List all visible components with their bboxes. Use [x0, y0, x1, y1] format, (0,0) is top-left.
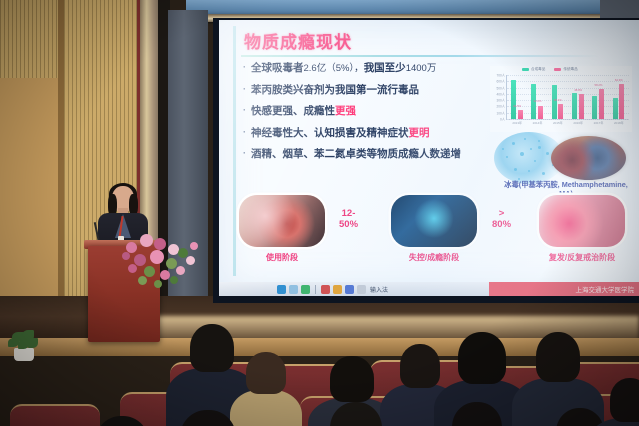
chart-point-label: 38.4%: [554, 98, 562, 102]
audience-member-head: [458, 332, 506, 384]
molecule-dot: [546, 152, 549, 155]
chart-x-tick: 2013年: [512, 121, 522, 125]
flower-blossom: [144, 266, 155, 277]
molecule-dot: [506, 156, 508, 158]
bullet-marker-icon: ·: [243, 62, 246, 74]
flower-blossom: [166, 258, 177, 269]
flower-blossom: [190, 242, 198, 250]
taskbar-venue-text: 上海交通大学医学院: [576, 284, 635, 294]
chart-gridline: [507, 88, 629, 89]
flower-blossom: [154, 238, 166, 250]
projection-screen: 物质成瘾现状 ·全球吸毒者2.6亿（5%），我国至少1400万·苯丙胺类兴奋剂为…: [219, 20, 639, 296]
chart-point-label: 24.5%: [513, 104, 521, 108]
chart-gridline: [507, 75, 629, 76]
browser-icon[interactable]: [277, 285, 286, 294]
chart-bar-group: [572, 93, 584, 119]
chart-y-tick: 500人: [496, 85, 505, 90]
chart-legend-item-0: 合成毒品: [522, 67, 545, 72]
bullet-text: 全球吸毒者2.6亿（5%），我国至少1400万: [251, 62, 436, 75]
bullet-text: 酒精、烟草、苯二氮卓类等物质成瘾人数递增: [251, 148, 461, 161]
stage-photo-relapse: [539, 195, 625, 247]
chart-gridline: [507, 100, 629, 101]
bullet-text: 快感更强、成瘾性更强: [251, 105, 356, 118]
transition-rate-addiction-to-relapse: >80%: [492, 209, 511, 231]
stage-card-use: 使用阶段: [239, 195, 325, 263]
shield-icon[interactable]: [345, 285, 354, 294]
chart-bar: [579, 94, 584, 119]
chart-y-tick: 100人: [496, 110, 505, 115]
flower-blossom: [138, 276, 147, 285]
flower-blossom: [176, 266, 185, 275]
molecule-dot: [534, 160, 536, 162]
slide-title: 物质成瘾现状: [244, 28, 352, 53]
chart-y-tick: 400人: [496, 91, 505, 96]
chart-x-tick: 2018年: [614, 121, 624, 125]
bullet-marker-icon: ·: [243, 127, 246, 139]
chart-point-label: 48.8%: [574, 88, 582, 92]
chart-point-label: 58.2%: [595, 83, 603, 87]
potted-plant: [8, 330, 38, 360]
presentation-slide: 物质成瘾现状 ·全球吸毒者2.6亿（5%），我国至少1400万·苯丙胺类兴奋剂为…: [219, 20, 639, 282]
flower-blossom: [154, 280, 162, 288]
slide-bullet-2: ·快感更强、成瘾性更强: [243, 105, 501, 118]
flower-blossom: [126, 242, 137, 253]
chart-gridline: [507, 106, 629, 107]
chart-point-label: 64.9%: [615, 78, 623, 82]
slide-title-rule: [241, 55, 599, 57]
transition-rate-line2: 50%: [339, 220, 358, 231]
chart-gridline: [507, 119, 629, 120]
chart-x-tick: 2016年: [573, 121, 583, 125]
slide-bullet-0: ·全球吸毒者2.6亿（5%），我国至少1400万: [243, 62, 501, 75]
chart-point-label: 32.0%: [534, 99, 542, 103]
bullet-marker-icon: ·: [243, 105, 246, 117]
chart-gridline: [507, 81, 629, 82]
chart-bar: [572, 93, 577, 119]
chart-y-tick: 300人: [496, 98, 505, 103]
conference-photo: 物质成瘾现状 ·全球吸毒者2.6亿（5%），我国至少1400万·苯丙胺类兴奋剂为…: [0, 0, 639, 426]
molecule-dot: [542, 172, 545, 175]
chart-y-tick: 0人: [500, 117, 505, 122]
stage-photo-loss-of-control: [391, 195, 477, 247]
slide-bullet-1: ·苯丙胺类兴奋剂为我国第一流行毒品: [243, 84, 501, 97]
molecule-dot: [538, 140, 540, 142]
molecule-dot: [502, 148, 504, 150]
slide-accent-bar: [233, 26, 236, 276]
chart-bar: [511, 80, 516, 119]
audience-member-head: [536, 332, 580, 382]
chart-x-tick: 2015年: [553, 121, 563, 125]
chart-bar: [599, 89, 604, 119]
molecule-dot: [530, 148, 532, 150]
bullet-text: 神经毒性大、认知损害及精神症状更明: [251, 127, 430, 140]
legend-swatch-icon: [522, 68, 529, 71]
flower-blossom: [140, 234, 153, 247]
chart-bar: [558, 104, 563, 119]
chart-x-tick: 2014年: [533, 121, 543, 125]
chart-bar: [538, 106, 543, 120]
chart-gridline: [507, 113, 629, 114]
taskbar-icon-group: [219, 285, 366, 294]
legend-label: 传统毒品: [563, 67, 577, 72]
taskbar-separator: [315, 285, 316, 294]
slide-bullet-4: ·酒精、烟草、苯二氮卓类等物质成瘾人数递增: [243, 148, 501, 161]
chart-y-tick: 700人: [496, 73, 505, 78]
bullet-marker-icon: ·: [243, 148, 246, 160]
stage-label-use: 使用阶段: [239, 252, 325, 263]
stage-label-loss-of-control: 失控/成瘾阶段: [391, 252, 477, 263]
molecule-dot: [512, 142, 515, 145]
audience-member-head: [190, 324, 234, 372]
app-icon[interactable]: [333, 285, 342, 294]
audience-member-head: [330, 356, 374, 402]
molecule-dot: [520, 152, 524, 156]
auditorium-seat: [10, 404, 100, 426]
flower-blossom: [134, 254, 146, 266]
chart-y-tick: 600人: [496, 79, 505, 84]
chart-bar: [592, 96, 597, 119]
molecule-dot: [514, 168, 517, 171]
chart-bar: [518, 110, 523, 119]
slide-bar-chart: 合成毒品传统毒品 700人600人500人400人300人200人100人0人2…: [490, 66, 632, 132]
flower-blossom: [160, 270, 170, 280]
flower-blossom: [122, 252, 130, 260]
molecule-dot: [524, 138, 526, 140]
bullet-text: 苯丙胺类兴奋剂为我国第一流行毒品: [251, 84, 419, 97]
media-icon[interactable]: [301, 285, 310, 294]
chart-y-tick: 200人: [496, 104, 505, 109]
chart-plot-area: 700人600人500人400人300人200人100人0人2013年24.5%…: [506, 75, 629, 120]
flower-arrangement: [120, 228, 206, 294]
flower-blossom: [186, 256, 195, 265]
legend-label: 合成毒品: [531, 67, 545, 72]
chart-bar: [552, 85, 557, 119]
chart-bar-group: [592, 89, 604, 119]
chart-bar: [613, 98, 618, 119]
drug-scene-photo: [551, 136, 626, 180]
stage-photo-use: [239, 195, 325, 247]
addiction-stage-row: 使用阶段失控/成瘾阶段复发/反复戒治阶段12-50%>80%: [239, 195, 629, 273]
audience-seating: [0, 304, 639, 426]
flower-blossom: [170, 276, 178, 284]
window-icon[interactable]: [289, 285, 298, 294]
stage-label-relapse: 复发/反复戒治阶段: [539, 252, 625, 263]
audience-member-shoulders: [230, 390, 302, 426]
plant-leaf: [18, 340, 29, 349]
taskbar-venue-banner: 上海交通大学医学院: [489, 282, 639, 296]
transition-rate-line2: 80%: [492, 220, 511, 231]
molecule-dot: [528, 170, 530, 172]
slide-bullet-list: ·全球吸毒者2.6亿（5%），我国至少1400万·苯丙胺类兴奋剂为我国第一流行毒…: [243, 62, 501, 170]
audience-member-head: [400, 344, 440, 388]
chart-bar-group: [552, 85, 564, 119]
chart-bar-group: [613, 84, 625, 119]
stage-card-loss-of-control: 失控/成瘾阶段: [391, 195, 477, 263]
plant-leaf: [28, 338, 38, 348]
audience-member-head: [246, 352, 286, 394]
folder-icon[interactable]: [357, 285, 366, 294]
slide-bullet-3: ·神经毒性大、认知损害及精神症状更明: [243, 127, 501, 140]
bullet-marker-icon: ·: [243, 84, 246, 96]
plant-pot: [14, 348, 34, 361]
chart-legend-item-1: 传统毒品: [554, 67, 577, 72]
chart-legend: 合成毒品传统毒品: [522, 67, 578, 72]
chat-icon[interactable]: [321, 285, 330, 294]
taskbar-ime-label: 输入法: [370, 285, 388, 294]
transition-rate-use-to-addiction: 12-50%: [339, 209, 358, 231]
os-taskbar: 输入法 上海交通大学医学院: [219, 282, 639, 296]
chart-bar: [619, 84, 624, 119]
chart-bar-group: [511, 80, 523, 119]
chart-gridline: [507, 94, 629, 95]
flower-blossom: [128, 264, 137, 273]
audience-member-head: [610, 378, 639, 422]
legend-swatch-icon: [554, 68, 561, 71]
stage-card-relapse: 复发/反复戒治阶段: [539, 195, 625, 263]
flower-blossom: [150, 250, 164, 264]
molecule-dot: [538, 146, 541, 149]
chart-x-tick: 2017年: [594, 121, 604, 125]
